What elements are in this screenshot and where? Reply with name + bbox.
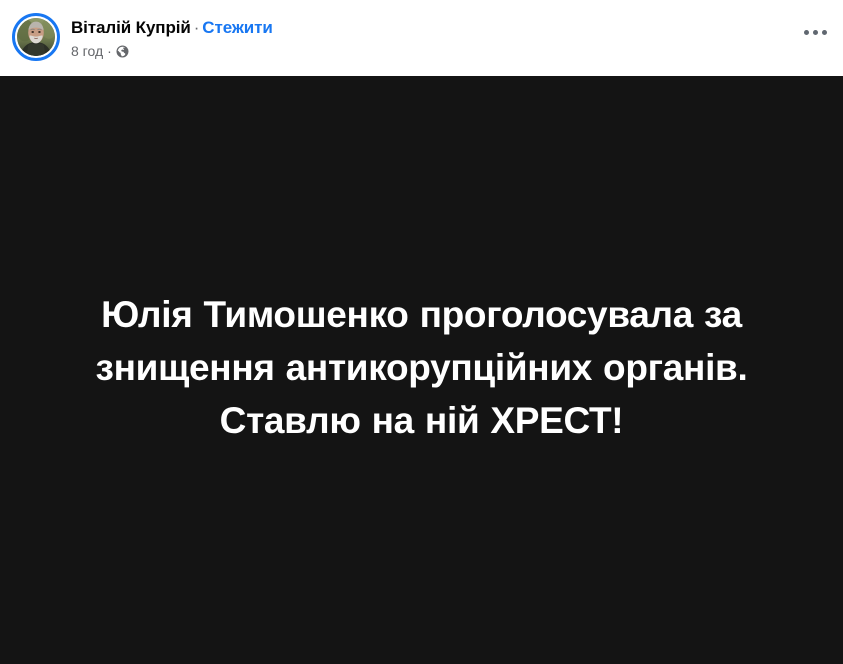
post-header: Віталій Купрій·Стежити 8 год · bbox=[0, 0, 843, 76]
post-header-text: Віталій Купрій·Стежити 8 год · bbox=[71, 17, 273, 60]
name-separator: · bbox=[194, 18, 200, 37]
post-body-text: Юлія Тимошенко проголосувала за знищення… bbox=[62, 288, 782, 447]
avatar[interactable] bbox=[12, 13, 60, 61]
author-name[interactable]: Віталій Купрій bbox=[71, 18, 191, 37]
follow-button[interactable]: Стежити bbox=[202, 18, 272, 37]
avatar-photo bbox=[17, 18, 55, 56]
post-timestamp[interactable]: 8 год bbox=[71, 42, 103, 60]
post-options-button[interactable] bbox=[797, 14, 833, 50]
author-row: Віталій Купрій·Стежити bbox=[71, 17, 273, 38]
facebook-post: Віталій Купрій·Стежити 8 год · Юлія Тимо… bbox=[0, 0, 843, 664]
globe-icon[interactable] bbox=[116, 45, 129, 58]
post-meta-row: 8 год · bbox=[71, 42, 273, 60]
post-media-black-card[interactable]: Юлія Тимошенко проголосувала за знищення… bbox=[0, 76, 843, 664]
meta-separator: · bbox=[107, 42, 112, 60]
ellipsis-horizontal-icon bbox=[804, 30, 827, 35]
